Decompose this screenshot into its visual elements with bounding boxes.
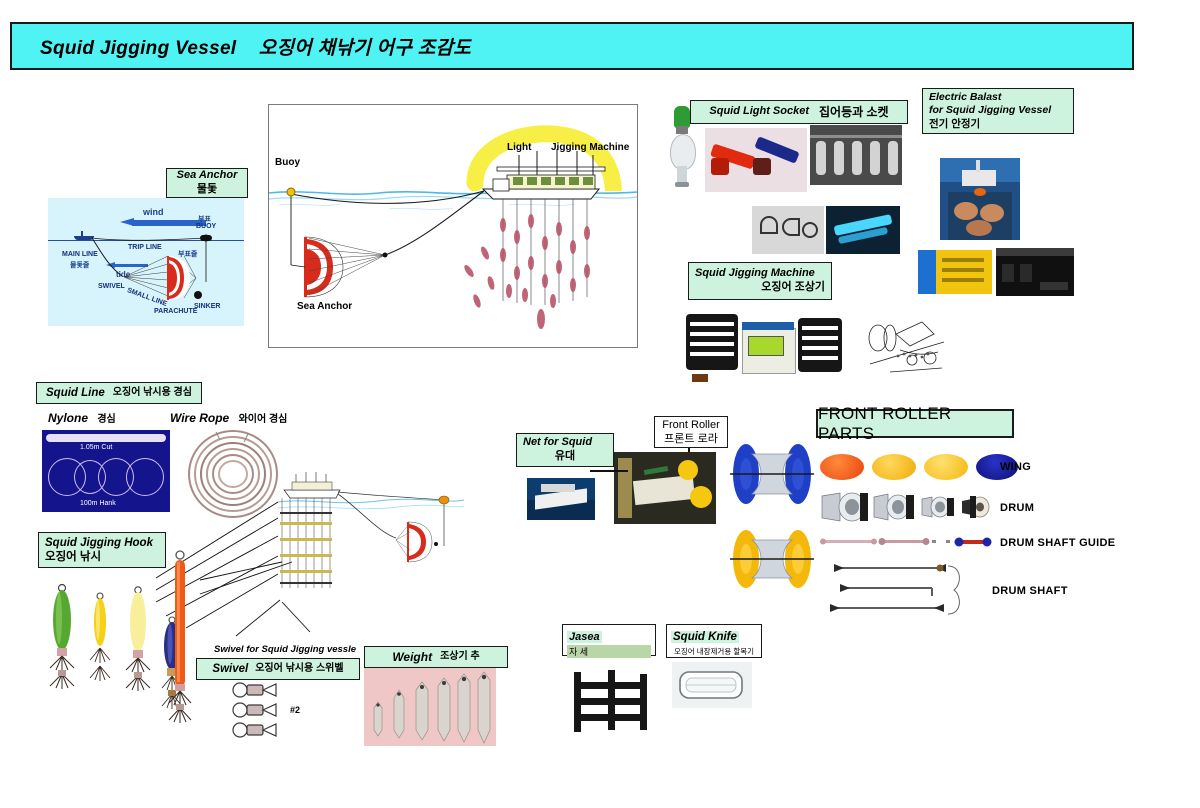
frp-label-wing: WING [1000,461,1031,473]
squid-knife-caption-en: Squid Knife [671,631,739,643]
frp-row-drum-shaft [820,560,1006,622]
frp-label-drum-shaft: DRUM SHAFT [992,585,1068,597]
front-roller-parts-title: FRONT ROLLER PARTS [816,409,1014,438]
scene-label-buoy: Buoy [275,157,300,168]
weight-caption: Weight 조상기 추 [364,646,508,668]
drawing-jigging-mechanism [860,312,952,380]
scene-label-jigging-machine: Jigging Machine [551,142,629,153]
label-trip-line: TRIP LINE [128,244,162,251]
squid-hook-caption-kr: 오징어 낚시 [45,550,159,564]
nylone-hank-label: 100m Hank [80,500,116,507]
wire-rope-label-en: Wire Rope [170,411,229,425]
squid-knife-caption-kr: 오징어 내장제거용 할복기 [671,646,757,657]
sea-anchor-figure: wind tide [48,198,244,326]
frp-label-drum-shaft-guide: DRUM SHAFT GUIDE [1000,537,1115,549]
photo-jasea [568,668,654,736]
jasea-caption: Jasea 자 세 [562,624,656,656]
photo-vessel-deck [940,158,1020,240]
scene-label-sea-anchor: Sea Anchor [297,301,352,312]
front-roller-callout-line1: Front Roller [662,418,719,432]
photo-squid-knife [672,662,752,708]
label-buoy-en: BUOY [196,223,216,230]
net-for-squid-caption-kr: 유대 [555,450,575,464]
frp-row-drum [820,490,1000,524]
photo-vessel-small [527,478,595,520]
squid-light-caption-en: Squid Light Socket [709,105,809,119]
jigging-machine-caption-kr: 오징어 조상기 [761,281,825,295]
wire-rope-label: Wire Rope 와이어 경심 [170,410,287,425]
sea-anchor-caption-en: Sea Anchor [177,169,238,183]
page-title: Squid Jigging Vessel 오징어 채낚기 어구 조감도 [12,33,471,60]
front-roller-callout: Front Roller 프론트 로라 [654,416,728,448]
photo-sockets [705,128,807,192]
page-title-bar: Squid Jigging Vessel 오징어 채낚기 어구 조감도 [10,22,1134,70]
weight-caption-en: Weight [392,650,432,665]
squid-light-caption-kr: 집어등과 소켓 [819,105,889,120]
electric-ballast-line1: Electric Balast [929,91,1067,104]
frp-label-drum: DRUM [1000,502,1034,514]
nylone-cut-label: 1.05m Cut [80,444,112,451]
photo-roller-blue [730,442,814,506]
wing-yellow-1 [872,454,916,480]
squid-lamp-icon [668,106,696,192]
main-scene-figure: Buoy Sea Anchor Light Jigging Machine [268,104,638,348]
label-parachute: PARACHUTE [154,308,197,315]
front-roller-parts-title-text: FRONT ROLLER PARTS [818,404,1012,444]
sea-anchor-caption: Sea Anchor 물돛 [166,168,248,198]
wing-yellow-2 [924,454,968,480]
page-title-en: Squid Jigging Vessel [40,38,236,59]
photo-ballast-black [996,248,1074,296]
jigging-machine-caption-en: Squid Jigging Machine [695,267,815,281]
net-connector-line [590,462,630,480]
weight-caption-kr: 조상기 추 [440,651,480,664]
wing-orange [820,454,864,480]
swivel-size-label: #2 [290,705,300,715]
nylone-label-kr: 경심 [97,414,115,425]
photo-socket-hooks [752,206,824,254]
page-title-kr: 오징어 채낚기 어구 조감도 [259,38,471,59]
electric-ballast-line3: 전기 안정기 [929,118,1067,131]
nylone-label-en: Nylone [48,411,88,425]
scene-label-light: Light [507,142,531,153]
squid-light-caption: Squid Light Socket 집어등과 소켓 [690,100,908,124]
jasea-caption-kr: 자 세 [567,645,651,658]
label-swivel: SWIVEL [98,283,125,290]
label-sinker: SINKER [194,303,220,310]
photo-lamp-rack [810,125,902,185]
squid-hook-large [166,548,194,728]
nylone-label: Nylone 경심 [48,410,116,425]
net-for-squid-caption-en: Net for Squid [523,436,607,450]
photo-jigging-machine [686,308,850,386]
squid-line-caption: Squid Line 오징어 낚시용 경심 [36,382,202,404]
sea-anchor-caption-kr: 물돛 [197,183,217,197]
jasea-caption-en: Jasea [567,631,602,643]
photo-blue-lamp [826,206,900,254]
frp-row-wing [820,452,990,482]
front-roller-callout-line2: 프론트 로라 [664,432,718,446]
squid-line-caption-kr: 오징어 낚시용 경심 [113,387,192,400]
swivel-items [228,680,338,742]
wire-rope-label-kr: 와이어 경심 [239,414,288,425]
electric-ballast-line2: for Squid Jigging Vessel [929,104,1067,117]
photo-weights [364,668,496,746]
squid-knife-caption: Squid Knife 오징어 내장제거용 할복기 [666,624,762,658]
photo-roller-yellow [730,528,814,590]
squid-hook-caption-en: Squid Jigging Hook [45,536,159,550]
label-main-line-kr: 물돛줄 [70,260,89,270]
label-float-line-kr: 부표줄 [178,249,197,259]
jigging-machine-caption: Squid Jigging Machine 오징어 조상기 [688,262,832,300]
frp-row-drum-shaft-guide [820,534,996,550]
squid-hook-caption: Squid Jigging Hook 오징어 낚시 [38,532,166,568]
photo-ballast-yellow [918,250,992,294]
electric-ballast-caption: Electric Balast for Squid Jigging Vessel… [922,88,1074,134]
squid-line-caption-en: Squid Line [46,386,105,400]
label-main-line: MAIN LINE [62,251,98,258]
